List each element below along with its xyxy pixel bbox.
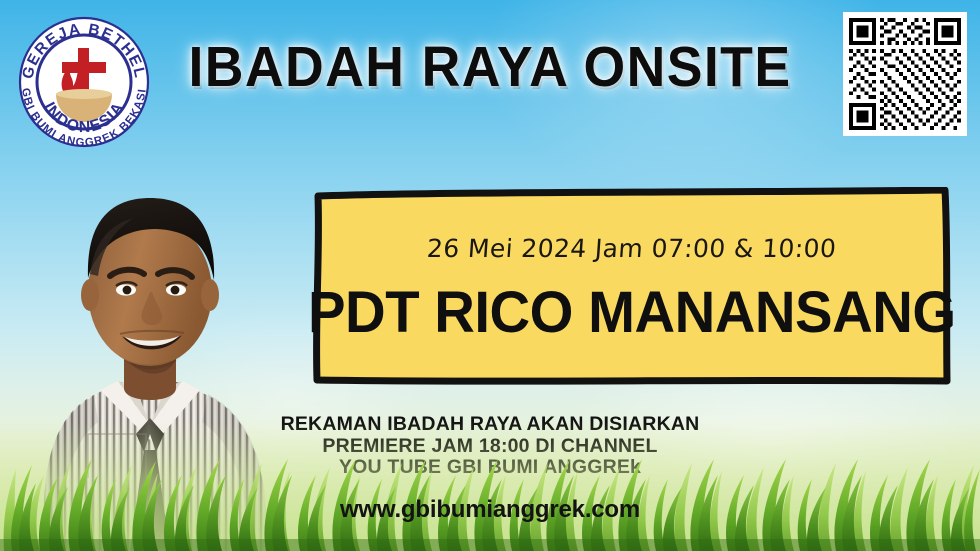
poster-canvas: GEREJA BETHEL INDONESIA GBI BUMI ANGGREK… — [0, 0, 980, 551]
website-url[interactable]: www.gbibumianggrek.com — [0, 496, 980, 524]
poster-title: IBADAH RAYA ONSITE — [29, 34, 950, 100]
sky-bloom-1 — [480, 0, 900, 200]
grass-strip — [0, 421, 980, 551]
speaker-name: PDT RICO MANANSANG — [308, 279, 956, 346]
event-date: 26 Mei 2024 Jam 07:00 & 10:00 — [426, 234, 837, 263]
speaker-card: 26 Mei 2024 Jam 07:00 & 10:00 PDT RICO M… — [311, 187, 952, 386]
